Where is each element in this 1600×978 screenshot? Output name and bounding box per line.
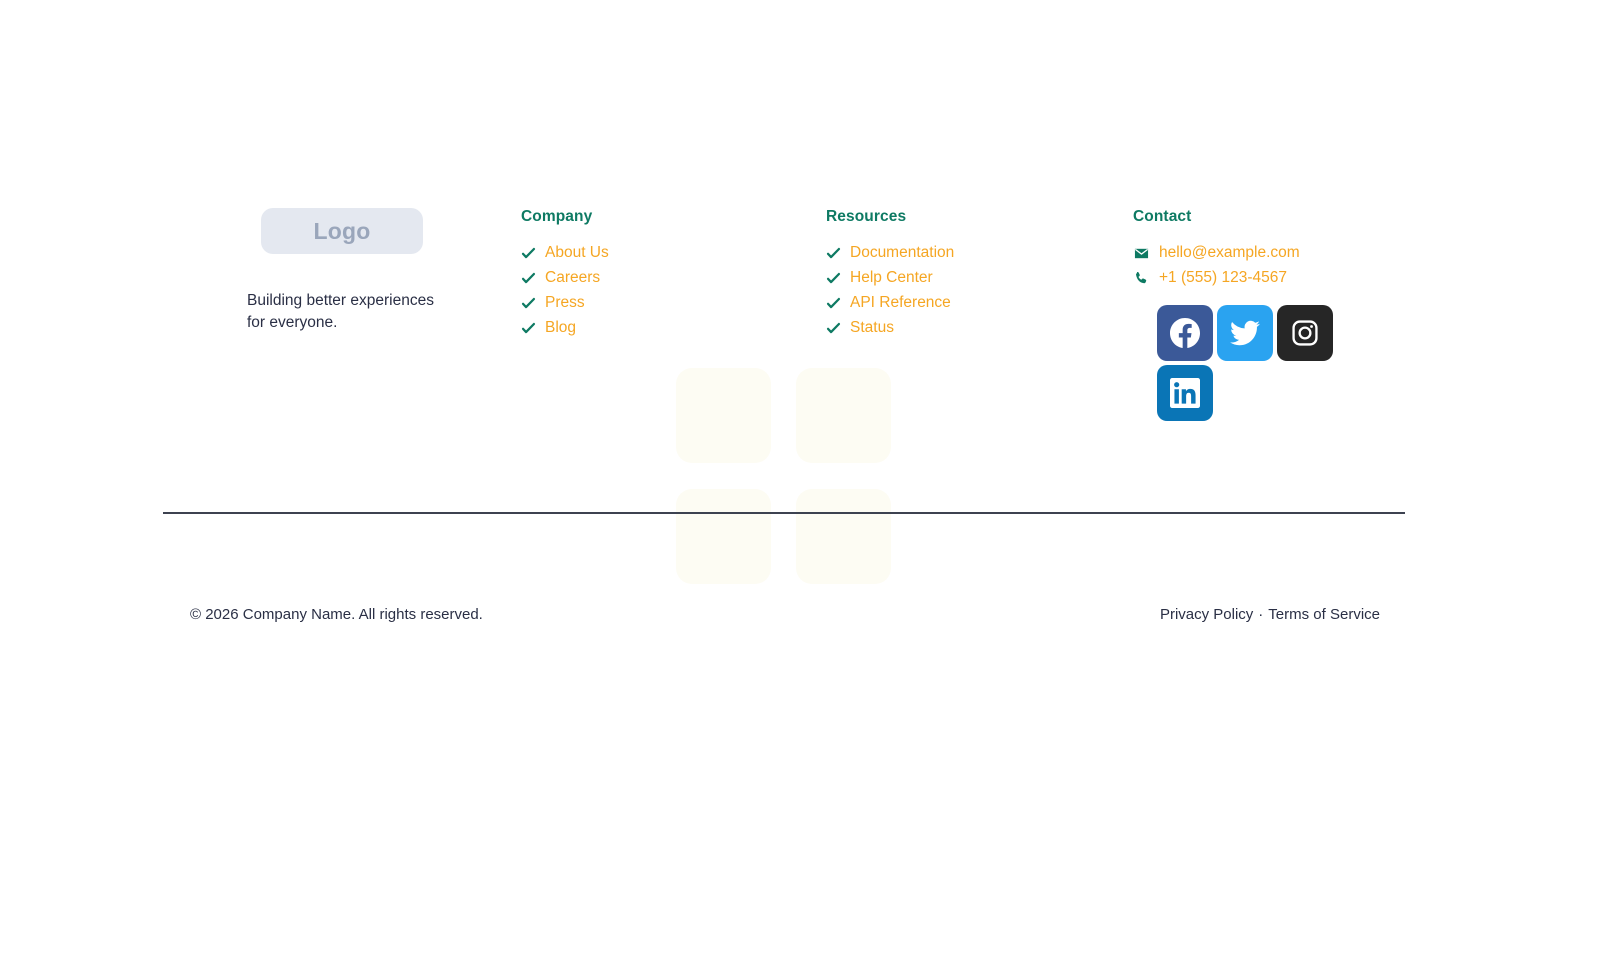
contact-column: Contact hello@example.com +1 (555) 123-4… xyxy=(1131,196,1405,421)
footer-page: Logo Building better experiences for eve… xyxy=(0,0,1600,978)
resources-column: Resources Documentation Help Center API … xyxy=(826,196,1131,342)
check-icon xyxy=(521,321,536,336)
list-item[interactable]: Status xyxy=(826,317,1131,339)
list-item[interactable]: About Us xyxy=(521,242,826,264)
contact-heading: Contact xyxy=(1133,208,1405,226)
contact-email[interactable]: hello@example.com xyxy=(1159,244,1300,262)
envelope-icon xyxy=(1133,245,1149,261)
resources-link-list: Documentation Help Center API Reference … xyxy=(826,242,1131,339)
list-item[interactable]: Careers xyxy=(521,267,826,289)
footer-columns: Logo Building better experiences for eve… xyxy=(163,196,1405,421)
link-label[interactable]: Press xyxy=(545,294,585,312)
contact-phone-row[interactable]: +1 (555) 123-4567 xyxy=(1133,267,1405,289)
privacy-policy-link[interactable]: Privacy Policy xyxy=(1160,606,1253,623)
link-label[interactable]: Careers xyxy=(545,269,600,287)
social-links xyxy=(1157,305,1335,421)
company-heading: Company xyxy=(521,208,826,226)
link-label[interactable]: Help Center xyxy=(850,269,933,287)
link-label[interactable]: About Us xyxy=(545,244,609,262)
list-item[interactable]: Documentation xyxy=(826,242,1131,264)
link-label[interactable]: API Reference xyxy=(850,294,951,312)
decorative-square xyxy=(796,489,891,584)
footer-bottom-bar: © 2026 Company Name. All rights reserved… xyxy=(190,606,1380,623)
check-icon xyxy=(521,271,536,286)
brand-column: Logo Building better experiences for eve… xyxy=(163,196,521,335)
check-icon xyxy=(826,321,841,336)
twitter-icon xyxy=(1230,318,1260,348)
link-label[interactable]: Blog xyxy=(545,319,576,337)
company-link-list: About Us Careers Press Blog xyxy=(521,242,826,339)
phone-icon xyxy=(1133,270,1149,286)
social-twitter-button[interactable] xyxy=(1217,305,1273,361)
copyright-text: © 2026 Company Name. All rights reserved… xyxy=(190,606,483,623)
linkedin-icon xyxy=(1170,378,1200,408)
contact-phone[interactable]: +1 (555) 123-4567 xyxy=(1159,269,1287,287)
check-icon xyxy=(521,296,536,311)
instagram-icon xyxy=(1291,319,1319,347)
logo-placeholder[interactable]: Logo xyxy=(261,208,423,254)
logo-label: Logo xyxy=(314,218,371,245)
site-footer: Logo Building better experiences for eve… xyxy=(163,196,1405,421)
check-icon xyxy=(826,246,841,261)
list-item[interactable]: Press xyxy=(521,292,826,314)
company-column: Company About Us Careers Press xyxy=(521,196,826,342)
list-item[interactable]: API Reference xyxy=(826,292,1131,314)
check-icon xyxy=(826,296,841,311)
check-icon xyxy=(826,271,841,286)
facebook-icon xyxy=(1170,318,1200,348)
legal-separator: · xyxy=(1258,606,1263,623)
list-item[interactable]: Blog xyxy=(521,317,826,339)
resources-heading: Resources xyxy=(826,208,1131,226)
link-label[interactable]: Documentation xyxy=(850,244,954,262)
contact-email-row[interactable]: hello@example.com xyxy=(1133,242,1405,264)
link-label[interactable]: Status xyxy=(850,319,894,337)
brand-tagline: Building better experiences for everyone… xyxy=(247,290,437,335)
list-item[interactable]: Help Center xyxy=(826,267,1131,289)
social-instagram-button[interactable] xyxy=(1277,305,1333,361)
legal-links: Privacy Policy · Terms of Service xyxy=(1160,606,1380,623)
terms-of-service-link[interactable]: Terms of Service xyxy=(1268,606,1380,623)
social-linkedin-button[interactable] xyxy=(1157,365,1213,421)
check-icon xyxy=(521,246,536,261)
footer-divider xyxy=(163,512,1405,514)
decorative-square xyxy=(676,489,771,584)
social-facebook-button[interactable] xyxy=(1157,305,1213,361)
